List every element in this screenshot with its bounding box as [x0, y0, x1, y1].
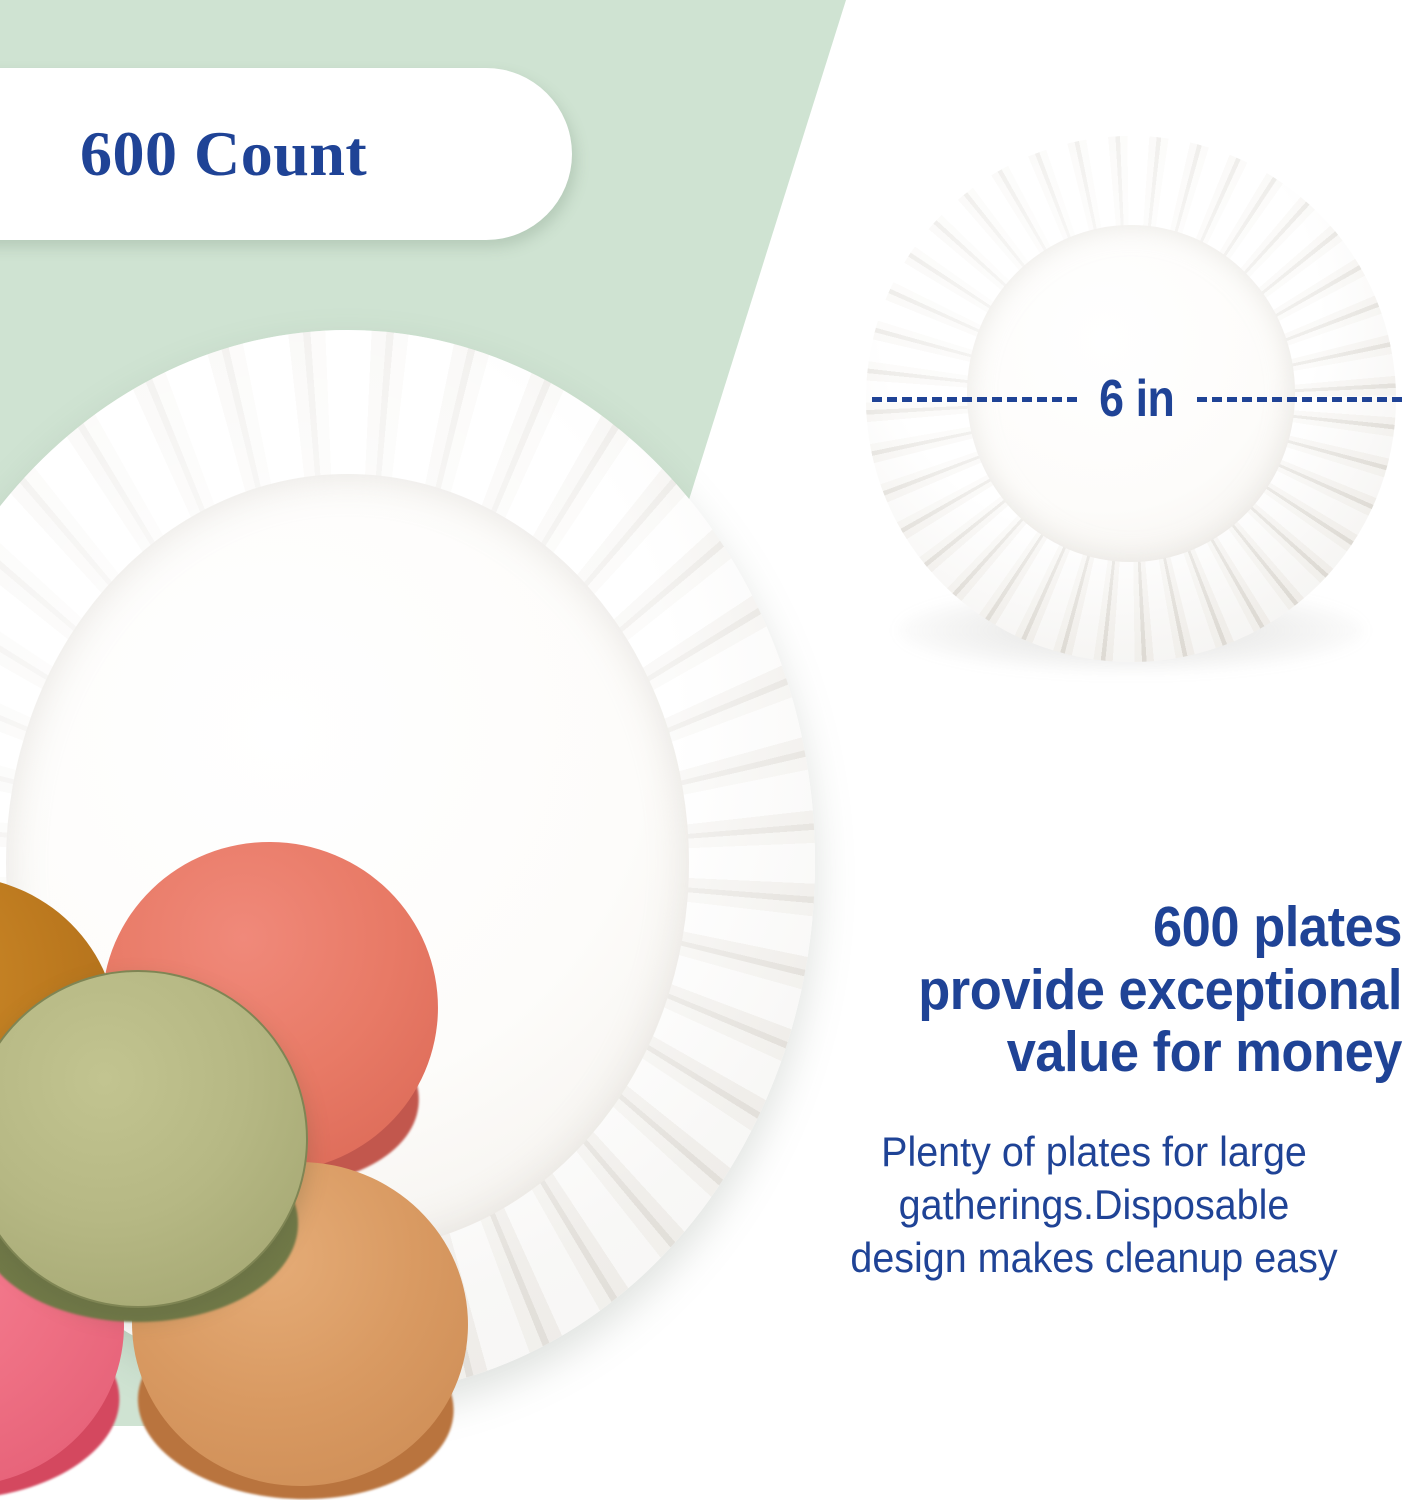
subcopy-line-3: design makes cleanup easy [804, 1232, 1383, 1285]
marketing-copy-block: 600 plates provide exceptional value for… [786, 896, 1402, 1285]
subcopy-line-1: Plenty of plates for large [804, 1126, 1383, 1179]
subcopy: Plenty of plates for large gatherings.Di… [804, 1126, 1383, 1285]
headline-line-2: provide exceptional [835, 959, 1402, 1022]
dimension-label: 6 in [1099, 373, 1174, 425]
count-badge: 600 Count [0, 68, 572, 240]
count-badge-label: 600 Count [80, 122, 367, 186]
headline-line-3: value for money [835, 1021, 1402, 1084]
dimension-dashed-line-left-icon [872, 397, 1077, 402]
headline-line-1: 600 plates [835, 896, 1402, 959]
dimension-dashed-line-right-icon [1197, 397, 1402, 402]
hero-paper-plate [0, 330, 815, 1395]
subcopy-line-2: gatherings.Disposable [804, 1179, 1383, 1232]
dimension-callout: 6 in [872, 366, 1402, 432]
headline: 600 plates provide exceptional value for… [835, 896, 1402, 1084]
product-marketing-image: 600 Count 6 in 600 plates provide except… [0, 0, 1420, 1500]
